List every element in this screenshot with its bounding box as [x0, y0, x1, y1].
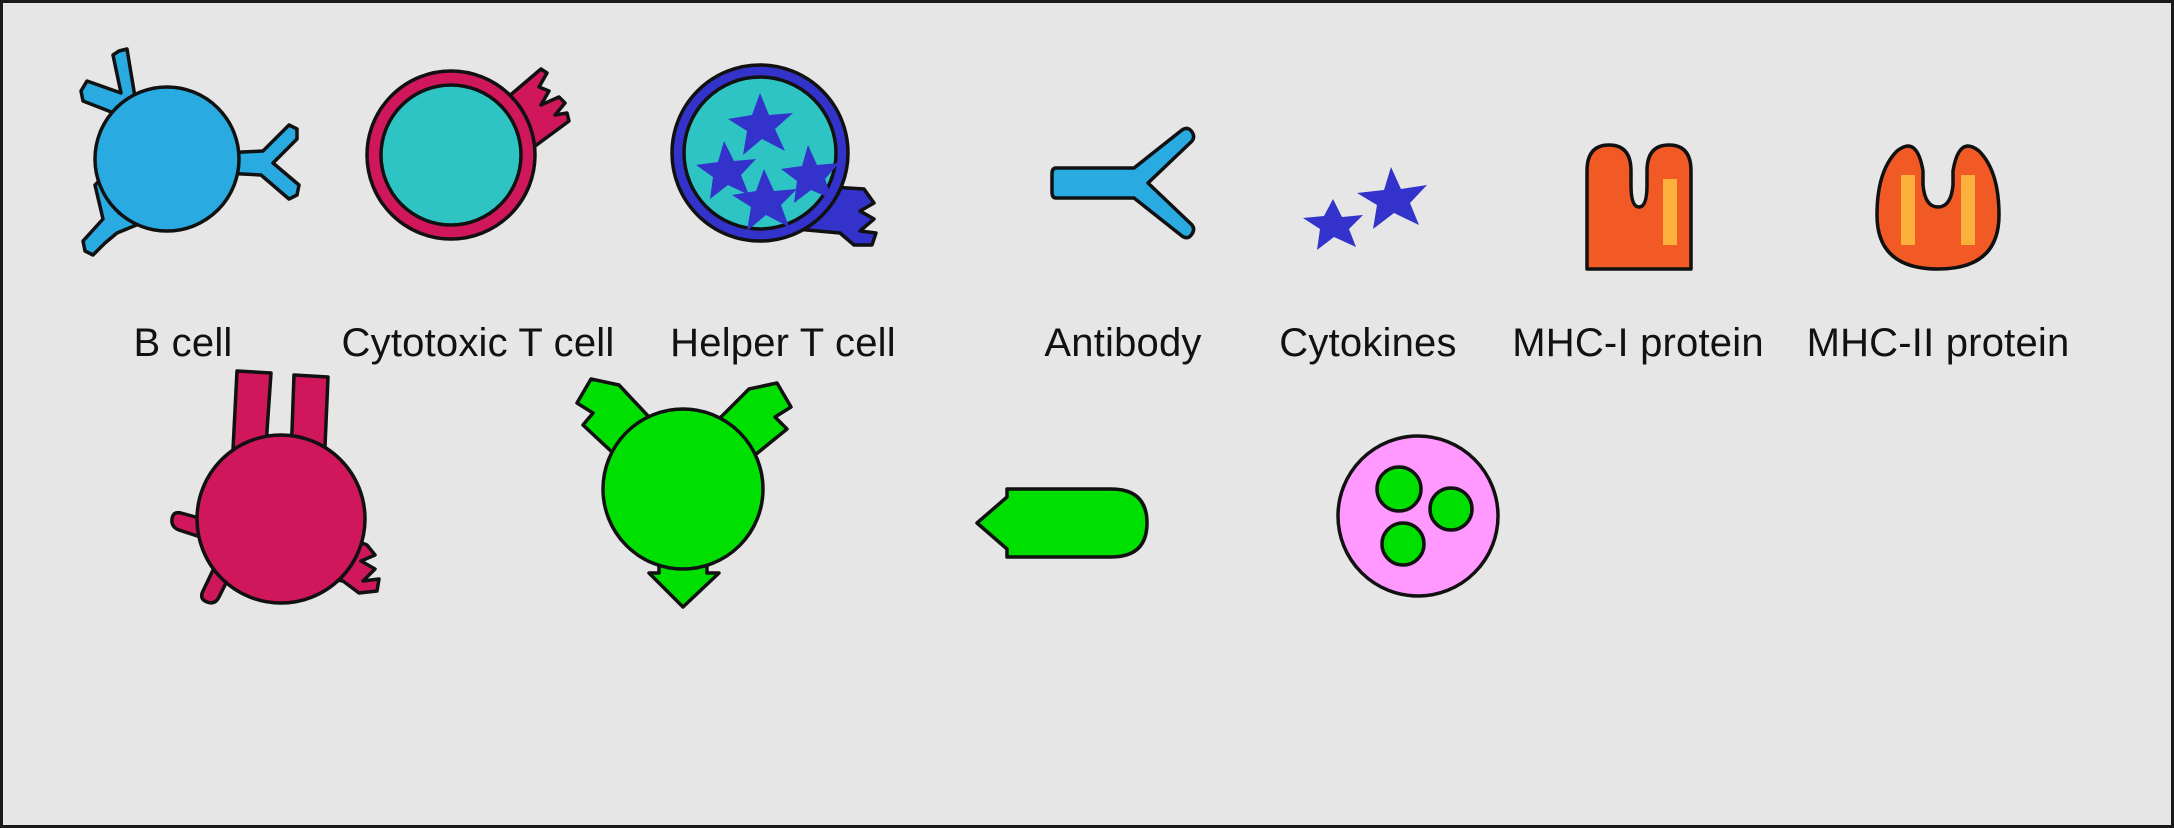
- antigen-dot: [1430, 488, 1472, 530]
- peptide-bar: [1663, 179, 1677, 245]
- mhc-ii-icon: [1873, 141, 2003, 271]
- peptide-bar: [1961, 175, 1975, 245]
- foreign-cell-icon: [573, 361, 803, 611]
- legend-item-foreign-antigen: Foreign antigen: [903, 283, 1223, 683]
- helper-t-cell-icon: [668, 53, 898, 273]
- antigen-dot: [1377, 467, 1421, 511]
- antigen-dot: [1382, 523, 1424, 565]
- cytokines-icon: [1303, 165, 1433, 245]
- star-shape: [1357, 167, 1427, 229]
- legend-item-invaded-cell: Invaded cell: [1283, 283, 1553, 683]
- natural-killer-cell-icon: [153, 353, 403, 603]
- legend-figure: B cell Cytotoxic T cell: [0, 0, 2174, 828]
- antibody-icon: [1048, 128, 1198, 238]
- legend-item-mhc-ii-protein: MHC-II protein: [1793, 23, 2083, 373]
- foreign-antigen-icon: [973, 483, 1153, 563]
- cytotoxic-t-cell-icon: [363, 63, 593, 263]
- mhc-i-icon: [1583, 141, 1693, 271]
- invaded-cell-icon: [1333, 431, 1503, 601]
- legend-item-foreign-cell: Foreign cell: [543, 283, 833, 683]
- mhc-ii-protein-label: MHC-II protein: [1807, 321, 2070, 366]
- b-cell-icon: [63, 33, 303, 263]
- peptide-bar: [1901, 175, 1915, 245]
- legend-item-natural-killer-cell: Natural killer cell: [113, 283, 443, 683]
- star-shape: [1303, 199, 1363, 250]
